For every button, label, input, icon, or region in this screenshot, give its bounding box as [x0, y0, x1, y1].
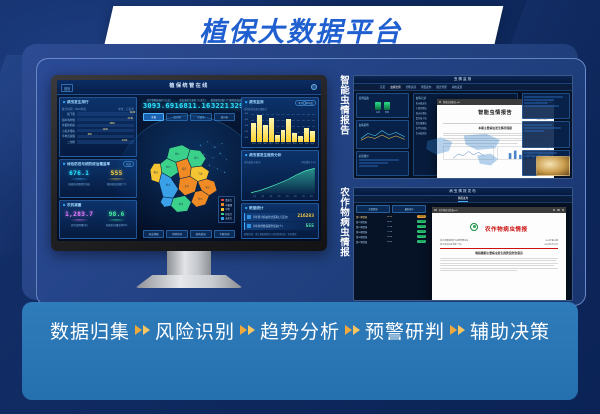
map-action-buttons: 病虫测报 用药指导 统防统治 专家咨询: [141, 230, 237, 238]
stat-pedestal-icon: [69, 219, 90, 222]
status-badge: 已发布: [417, 215, 426, 218]
nav-item[interactable]: 预警发布: [421, 85, 431, 89]
sub-screen-header: 病虫情报发布: [354, 188, 572, 196]
zoom-out-icon[interactable]: [553, 209, 555, 211]
hbar-label: 稻纵卷叶螟: [62, 118, 75, 122]
table-row[interactable]: 第12期情报 08-15 已发布: [356, 215, 426, 219]
monitor-neck: [167, 251, 211, 279]
legend-label: 轻发生: [225, 212, 232, 216]
chevron-right-icon: [240, 325, 255, 335]
sub-screen-body: 全部情报 最新发布 第12期情报 08-15 已发布 第11期情报 08-01 …: [354, 203, 572, 300]
stat-list-row[interactable]: 今年新增植保服务组织(个) 555: [244, 222, 316, 230]
bulletin-filter-new[interactable]: 最新发布: [392, 205, 426, 213]
sub-left-panels: 监测设备 在线 离线: [354, 91, 411, 178]
table-row[interactable]: 第11期情报 08-01 已发布: [356, 220, 426, 224]
sub-screen-nav: 情报发布: [354, 196, 572, 203]
bar-panel-subtitle: 各地市病虫发生量统计: [244, 107, 316, 111]
panel-recognition-stats: 识别统计: [356, 151, 409, 176]
nav-item[interactable]: 系统设置: [452, 85, 462, 89]
legend-label: 未发生: [225, 216, 232, 220]
y-tick: 400: [245, 119, 248, 121]
download-icon[interactable]: [562, 209, 564, 211]
panel-title: 监测设备: [359, 96, 407, 100]
legend-item: 轻发生: [221, 212, 232, 216]
sub-screen-title: 病虫情报发布: [449, 189, 477, 194]
status-badge: 已发布: [417, 240, 426, 243]
cell-date: 06-20: [387, 236, 417, 238]
panel-pest-ranking: 病虫发生排行 统计时间：2024年度 单位：万亩次 稻飞虱: [59, 97, 137, 157]
hbar-value: 2740: [128, 117, 133, 120]
hbar-track: 860: [77, 135, 134, 138]
menu-icon[interactable]: [439, 101, 441, 103]
x-tick: 嘉兴: [269, 142, 274, 145]
hbar-label: 水稻纹枯病: [62, 123, 75, 127]
dashboard-screen: 首页 植保统管在线 病虫发生排行 统计时间：2024年度 单位：万亩次: [57, 80, 321, 241]
x-tick: 2月: [259, 195, 266, 198]
cell-date: 08-01: [387, 221, 417, 223]
cell-name: 第07期情报: [356, 240, 386, 244]
panel-title: 识别统计: [359, 154, 407, 158]
cell-name: 第10期情报: [356, 225, 386, 229]
nav-item[interactable]: 虫情监测: [390, 85, 400, 89]
nav-item[interactable]: 报告管理: [436, 85, 446, 89]
sub-screen-nav: 首页 虫情监测 诊断识别 预警发布 报告管理 系统设置: [354, 84, 572, 91]
stat-list-row[interactable]: 今年累计病虫防治面积(万亩次) 216283: [244, 213, 316, 221]
cell-date: 07-03: [387, 231, 417, 233]
chevron-right-icon: [345, 325, 360, 335]
hbar-item: 稻飞虱 3180: [62, 112, 134, 116]
kpi-strip: 农作物种植面积 (万亩) 3093.69 病虫害发生面积 (万亩次) 16811…: [141, 97, 237, 111]
hbar-item: 小麦赤霉病 1420: [62, 129, 134, 133]
document-subtitle: 晚稻穗期主要病虫发生趋势及防治意见: [440, 251, 558, 255]
process-step: 辅助决策: [470, 317, 550, 344]
bar-x-labels: 杭州 宁波 温州 嘉兴 湖州 绍兴 金华 衢州 舟山: [251, 142, 315, 145]
monitor: 首页 植保统管在线 病虫发生排行 统计时间：2024年度 单位：万亩次: [51, 75, 327, 301]
panel-title: 病虫害发生趋势分析: [244, 153, 316, 158]
sub-center-area: 虫情记录 杭州临安站 1286 正常 宁波余姚站 952 预警: [411, 91, 520, 178]
sub-screen-stack: 智能虫情报告 农作物病虫情报 虫情监测 首页 虫情监测 诊断识别 预警发布 报告…: [335, 75, 573, 301]
x-tick: 6月: [292, 195, 299, 198]
sub-screen-2-vertical-label: 农作物病虫情报: [335, 187, 348, 299]
bar-tab-year[interactable]: 本年度: [303, 100, 316, 106]
panel-subtitle: 统计时间：2024年度 单位：万亩次: [62, 107, 134, 111]
x-tick: 丽水: [310, 142, 315, 145]
bulletin-filter-all[interactable]: 全部情报: [356, 205, 390, 213]
dashboard-right-column: 病虫监测 本月 本年度 各地市病虫发生量统计 500 400 300 200 1…: [239, 95, 321, 241]
status-badge: 已发布: [417, 230, 426, 233]
panel-title: 数据统计: [244, 206, 316, 211]
chart-icon: [247, 215, 250, 218]
panel-side-a: [522, 93, 570, 119]
hbar-track: 3180: [77, 112, 134, 115]
zoom-in-icon[interactable]: [557, 209, 559, 211]
x-tick: 舟山: [298, 142, 303, 145]
hbar-item: 草地贪夜蛾 860: [62, 134, 134, 138]
page-title: 植保大数据平台: [197, 10, 409, 49]
stat-list-label: 今年新增植保服务组织(个): [253, 224, 304, 228]
x-tick: 杭州: [251, 142, 256, 145]
stat-value: 676.1: [62, 170, 96, 177]
showcase-card: 首页 植保统管在线 病虫发生排行 统计时间：2024年度 单位：万亩次: [36, 58, 586, 306]
x-tick: 绍兴: [281, 142, 286, 145]
mini-line-chart: [359, 128, 407, 142]
menu-icon[interactable]: [434, 209, 436, 211]
bulletin-list-panel: 全部情报 最新发布 第12期情报 08-15 已发布 第11期情报 08-01 …: [354, 203, 428, 300]
legend-label: 中偏重: [225, 203, 232, 207]
area-series: [251, 166, 315, 195]
hbar-track: 1960: [77, 124, 134, 127]
stat-card: 1,283.7 农药使用量(吨): [62, 210, 96, 229]
sub-screen-pest-report: 虫情监测 首页 虫情监测 诊断识别 预警发布 报告管理 系统设置 监测设备: [353, 75, 573, 179]
panel-title: 虫情趋势: [359, 123, 407, 127]
x-tick: 宁波: [257, 142, 262, 145]
subtitle-left: 统计时间：2024年度: [62, 107, 86, 111]
legend-item: 未发生: [221, 216, 232, 220]
province-map[interactable]: 湖州嘉兴杭州 宁波绍兴衢州 舟山金华丽水 温州台州: [141, 124, 237, 239]
data-source-ticker: 数据来源：浙江省植保检疫与农药管理总站 · 实时更新: [244, 232, 316, 236]
dashboard-center-column: 农作物种植面积 (万亩) 3093.69 病虫害发生面积 (万亩次) 16811…: [139, 95, 239, 241]
hbar-item: 稻纵卷叶螟 2740: [62, 118, 134, 122]
panel-pest-monitoring: 病虫监测 本月 本年度 各地市病虫发生量统计 500 400 300 200 1…: [241, 97, 319, 148]
sub-screen-header: 虫情监测: [354, 76, 572, 84]
hbar-value: 2310: [122, 139, 127, 142]
hbar-item: 水稻纹枯病 1960: [62, 123, 134, 127]
user-avatar-icon[interactable]: [311, 84, 317, 90]
chevron-right-icon: [450, 325, 465, 335]
panel-trend-analysis: 病虫害发生趋势分析 发生面积(万亩次) 同比增长 8.6%: [241, 150, 319, 201]
table-row[interactable]: 第10期情报 07-18 已发布: [356, 225, 426, 229]
dashboard-body: 病虫发生排行 统计时间：2024年度 单位：万亩次 稻飞虱: [57, 95, 321, 241]
x-tick: 5月: [284, 195, 291, 198]
process-step: 趋势分析: [260, 317, 340, 344]
hbar-label: 小麦赤霉病: [62, 129, 75, 133]
area-x-labels: 1月 2月 3月 4月 5月 6月 7月 8月: [251, 195, 315, 198]
chevron-right-icon: [135, 325, 150, 335]
map-action-button[interactable]: 专家咨询: [214, 230, 236, 238]
document-issuer-2: 浙江省农业技术推广中心: [440, 243, 462, 246]
area-chart: 1月 2月 3月 4月 5月 6月 7月 8月: [244, 165, 316, 198]
kpi-card: 农作物种植面积 (万亩) 3093.69: [143, 99, 175, 110]
document-viewer-crop-bulletin[interactable]: 农作物病虫情报.pdf 农作物病虫情报: [432, 207, 566, 301]
poster-root: 植保大数据平台 首页 植保统管在线 病虫发生排行: [0, 0, 600, 414]
stat-list-value: 555: [306, 224, 314, 229]
stat-list-label: 今年累计病虫防治面积(万亩次): [253, 215, 296, 219]
nav-item[interactable]: 首页: [380, 85, 385, 89]
hbar-label: 草地贪夜蛾: [62, 134, 75, 138]
monitor-bezel: 首页 植保统管在线 病虫发生排行 统计时间：2024年度 单位：万亩次: [51, 75, 327, 251]
doc-chart-1: [443, 146, 494, 160]
table-row[interactable]: 第08期情报 06-20 已发布: [356, 235, 426, 239]
legend-label: 重发生: [225, 198, 232, 202]
hbar-track: 1420: [77, 129, 134, 132]
panel-monitor-devices: 监测设备 在线 离线: [356, 93, 409, 118]
hbar-label: 二化螟: [62, 140, 75, 144]
status-badge: 已发布: [417, 235, 426, 238]
cell-name: 第11期情报: [356, 220, 386, 224]
process-step: 预警研判: [365, 317, 445, 344]
hbar-label: 稻飞虱: [62, 112, 75, 116]
nav-item[interactable]: 诊断识别: [406, 85, 416, 89]
panel-pest-trend: 虫情趋势: [356, 120, 409, 149]
sub-screen-title: 虫情监测: [454, 77, 472, 82]
x-tick: 金华: [286, 142, 291, 145]
hbar-list: 稻飞虱 3180 稻纵卷叶螟: [62, 112, 134, 144]
legend-label: 中等: [225, 207, 230, 211]
process-step: 数据归集: [50, 317, 130, 344]
mini-bar-list: [359, 159, 407, 167]
cell-date: 06-05: [387, 241, 417, 243]
area-legend: 发生面积(万亩次): [244, 160, 261, 164]
kpi-card: 植保服务组织 (个) 3221: [211, 99, 230, 110]
document-page: 农作物病虫情报 浙江省植保检疫与农药管理总站 2024年第12期 浙江省农业技术…: [432, 213, 566, 278]
x-tick: 温州: [263, 142, 268, 145]
cell-date: 08-15: [387, 216, 417, 218]
sub-screen-1-vertical-label: 智能虫情报告: [335, 75, 348, 179]
map-action-button[interactable]: 统防统治: [190, 230, 212, 238]
x-tick: 湖州: [275, 142, 280, 145]
device-icon: [384, 102, 390, 110]
hbar-item: 二化螟 2310: [62, 140, 134, 144]
y-tick: 200: [245, 131, 248, 133]
y-tick: 500: [245, 113, 248, 115]
panel-side-b: [522, 121, 570, 147]
legend-item: 中等: [221, 207, 232, 211]
map-action-button[interactable]: 用药指导: [166, 230, 188, 238]
legend-item: 重发生: [221, 198, 232, 202]
hbar-value: 3180: [130, 111, 135, 114]
kpi-value: 3221: [211, 102, 230, 110]
hbar-track: 2310: [77, 140, 134, 143]
process-steps: 数据归集 风险识别 趋势分析 预警研判 辅助决策: [22, 302, 578, 358]
bar-series: [251, 113, 315, 142]
hbar-value: 860: [88, 133, 92, 136]
dashboard-home-chip[interactable]: 首页: [61, 84, 73, 92]
device-photo-thumbnail: [536, 156, 570, 176]
stat-caption: 绿色防控面积(万亩): [62, 182, 96, 186]
document-filename: 智能虫情报告.pdf: [443, 100, 534, 104]
stat-pedestal-icon: [69, 178, 90, 181]
kpi-card: 病虫害发生面积 (万亩次) 16811.16: [174, 99, 210, 110]
dashboard-header: 首页 植保统管在线: [57, 80, 321, 95]
map-legend: 重发生 中偏重 中等: [218, 196, 235, 223]
x-tick: 台州: [304, 142, 309, 145]
y-tick: 100: [245, 137, 248, 139]
dashboard-title: 植保统管在线: [169, 82, 209, 89]
official-seal-icon: [470, 223, 478, 231]
status-badge: 已发布: [417, 225, 426, 228]
document-filename: 农作物病虫情报.pdf: [439, 208, 551, 212]
monitor-base: [135, 275, 243, 288]
x-tick: 4月: [275, 195, 282, 198]
x-tick: 3月: [267, 195, 274, 198]
document-title: 农作物病虫情报: [485, 227, 528, 233]
zhejiang-map-svg[interactable]: 湖州嘉兴杭州 宁波绍兴衢州 舟山金华丽水 温州台州: [145, 128, 222, 227]
process-step: 风险识别: [155, 317, 235, 344]
x-tick: 7月: [300, 195, 307, 198]
hbar-track: 2740: [77, 118, 134, 121]
chart-icon: [247, 224, 250, 227]
x-tick: 衢州: [292, 142, 297, 145]
sub-screen-crop-bulletin: 病虫情报发布 情报发布 全部情报 最新发布 第12期情报 08-15: [353, 187, 573, 301]
document-issuer: 浙江省植保检疫与农药管理总站: [440, 239, 468, 242]
bar-chart: 500 400 300 200 100: [244, 112, 316, 145]
cell-name: 第09期情报: [356, 230, 386, 234]
document-issue-date: 2024年8月15日: [544, 243, 558, 246]
stat-list-value: 216283: [297, 214, 314, 219]
device-icon: [375, 102, 381, 110]
mini-bar-list: [524, 96, 567, 107]
nav-item[interactable]: 情报发布: [458, 196, 468, 202]
stat-caption: 农药使用量(吨): [62, 223, 96, 227]
panel-data-statistics: 数据统计 今年累计病虫防治面积(万亩次) 216283 今年新增植保服务组织(个…: [241, 203, 319, 239]
bulletin-doc-area: 农作物病虫情报.pdf 农作物病虫情报: [428, 203, 572, 300]
cell-name: 第12期情报: [356, 215, 386, 219]
area-note: 同比增长 8.6%: [302, 160, 316, 164]
hbar-value: 1420: [103, 128, 108, 131]
x-tick: 8月: [308, 195, 315, 198]
status-badge: 已发布: [417, 220, 426, 223]
x-tick: 1月: [251, 195, 258, 198]
table-row[interactable]: 第07期情报 06-05 已发布: [356, 240, 426, 244]
hbar-value: 1960: [109, 122, 114, 125]
kpi-value: 3093.69: [143, 102, 175, 110]
stat-value: 1,283.7: [62, 211, 96, 218]
mini-bar-list: [524, 124, 567, 132]
stat-card: 676.1 绿色防控面积(万亩): [62, 169, 96, 188]
table-row[interactable]: 第09期情报 07-03 已发布: [356, 230, 426, 234]
cell-name: 第08期情报: [356, 235, 386, 239]
y-tick: 300: [245, 125, 248, 127]
document-issue-no: 2024年第12期: [545, 239, 558, 242]
cell-date: 07-18: [387, 226, 417, 228]
legend-item: 中偏重: [221, 203, 232, 207]
kpi-value: 16811.16: [174, 102, 210, 110]
panel-title: 病虫发生排行: [62, 100, 134, 105]
map-action-button[interactable]: 病虫测报: [143, 230, 165, 238]
divider: [440, 248, 558, 249]
